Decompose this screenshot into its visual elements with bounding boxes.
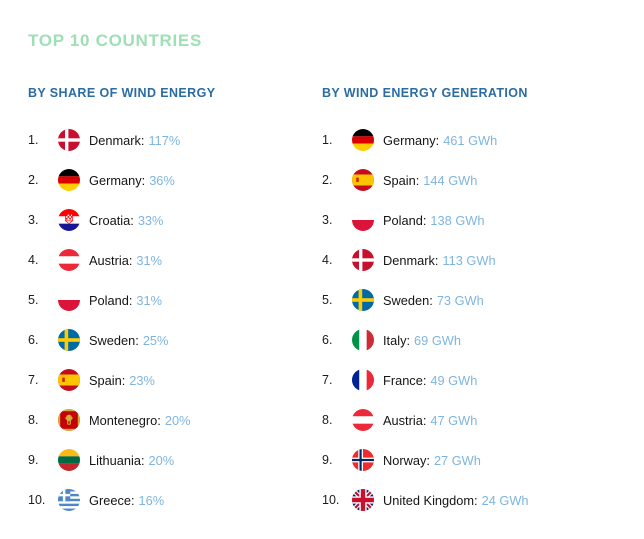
spain-flag-icon (58, 369, 80, 391)
rank-number: 5. (28, 293, 58, 307)
rank-number: 10. (322, 493, 352, 507)
country-name: Sweden: (383, 293, 433, 308)
france-flag-icon (352, 369, 374, 391)
sweden-flag-icon (352, 289, 374, 311)
country-value: 69 GWh (414, 333, 461, 348)
list-item: 3.Poland:138 GWh (322, 200, 622, 240)
rank-number: 10. (28, 493, 58, 507)
country-value: 73 GWh (437, 293, 484, 308)
norway-flag-icon (352, 449, 374, 471)
poland-flag-icon (58, 289, 80, 311)
list-item: 10.Greece:16% (28, 480, 318, 520)
lithuania-flag-icon (58, 449, 80, 471)
country-name: Croatia: (89, 213, 134, 228)
rank-number: 6. (28, 333, 58, 347)
sweden-flag-icon (58, 329, 80, 351)
column-wind-energy-generation: BY WIND ENERGY GENERATION 1.Germany:461 … (322, 86, 622, 504)
list-item: 7.France:49 GWh (322, 360, 622, 400)
country-name: Montenegro: (89, 413, 161, 428)
country-value: 31% (136, 253, 162, 268)
country-value: 138 GWh (430, 213, 484, 228)
list-item: 1.Germany:461 GWh (322, 120, 622, 160)
country-value: 47 GWh (430, 413, 477, 428)
country-name: France: (383, 373, 426, 388)
denmark-flag-icon (352, 249, 374, 271)
rank-number: 9. (322, 453, 352, 467)
rank-number: 9. (28, 453, 58, 467)
italy-flag-icon (352, 329, 374, 351)
country-value: 117% (148, 133, 180, 148)
germany-flag-icon (58, 169, 80, 191)
denmark-flag-icon (58, 129, 80, 151)
column-share-of-wind-energy: BY SHARE OF WIND ENERGY 1.Denmark:117%2.… (28, 86, 318, 504)
country-name: Germany: (89, 173, 145, 188)
austria-flag-icon (352, 409, 374, 431)
greece-flag-icon (58, 489, 80, 511)
country-value: 113 GWh (442, 253, 495, 268)
rank-number: 2. (322, 173, 352, 187)
column-heading: BY SHARE OF WIND ENERGY (28, 86, 318, 104)
list-item: 8.Montenegro:20% (28, 400, 318, 440)
country-name: Greece: (89, 493, 135, 508)
country-name: Austria: (89, 253, 132, 268)
country-name: Austria: (383, 413, 426, 428)
list-item: 10.United Kingdom:24 GWh (322, 480, 622, 520)
list-item: 8.Austria:47 GWh (322, 400, 622, 440)
country-name: Spain: (89, 373, 125, 388)
country-value: 23% (129, 373, 155, 388)
rank-number: 6. (322, 333, 352, 347)
rank-number: 7. (28, 373, 58, 387)
uk-flag-icon (352, 489, 374, 511)
list-item: 2.Spain:144 GWh (322, 160, 622, 200)
list-item: 9.Norway:27 GWh (322, 440, 622, 480)
rank-number: 7. (322, 373, 352, 387)
country-name: Poland: (89, 293, 132, 308)
country-value: 20% (165, 413, 191, 428)
rank-number: 4. (28, 253, 58, 267)
country-name: Denmark: (383, 253, 438, 268)
country-value: 36% (149, 173, 175, 188)
list-item: 6.Sweden:25% (28, 320, 318, 360)
country-name: Poland: (383, 213, 426, 228)
top-countries-panel: TOP 10 COUNTRIES BY SHARE OF WIND ENERGY… (0, 0, 644, 539)
austria-flag-icon (58, 249, 80, 271)
country-name: United Kingdom: (383, 493, 478, 508)
list-item: 4.Denmark:113 GWh (322, 240, 622, 280)
country-name: Denmark: (89, 133, 144, 148)
country-value: 461 GWh (443, 133, 497, 148)
rank-number: 8. (322, 413, 352, 427)
country-name: Lithuania: (89, 453, 145, 468)
country-name: Germany: (383, 133, 439, 148)
rank-number: 1. (322, 133, 352, 147)
country-name: Italy: (383, 333, 410, 348)
column-heading: BY WIND ENERGY GENERATION (322, 86, 622, 104)
rank-number: 3. (28, 213, 58, 227)
poland-flag-icon (352, 209, 374, 231)
list-item: 5.Sweden:73 GWh (322, 280, 622, 320)
list-item: 2.Germany:36% (28, 160, 318, 200)
list-item: 7.Spain:23% (28, 360, 318, 400)
list-item: 4.Austria:31% (28, 240, 318, 280)
spain-flag-icon (352, 169, 374, 191)
rank-number: 2. (28, 173, 58, 187)
rank-number: 8. (28, 413, 58, 427)
list-item: 6.Italy:69 GWh (322, 320, 622, 360)
rank-number: 4. (322, 253, 352, 267)
country-value: 33% (138, 213, 164, 228)
rank-number: 1. (28, 133, 58, 147)
country-value: 49 GWh (430, 373, 477, 388)
country-name: Sweden: (89, 333, 139, 348)
country-value: 25% (143, 333, 169, 348)
page-title: TOP 10 COUNTRIES (28, 31, 202, 51)
country-value: 16% (139, 493, 165, 508)
country-value: 27 GWh (434, 453, 481, 468)
country-value: 24 GWh (482, 493, 529, 508)
montenegro-flag-icon (58, 409, 80, 431)
country-list-generation: 1.Germany:461 GWh2.Spain:144 GWh3.Poland… (322, 120, 622, 520)
list-item: 5.Poland:31% (28, 280, 318, 320)
list-item: 3.Croatia:33% (28, 200, 318, 240)
country-value: 144 GWh (423, 173, 477, 188)
rank-number: 3. (322, 213, 352, 227)
country-list-share: 1.Denmark:117%2.Germany:36%3.Croatia:33%… (28, 120, 318, 520)
country-name: Norway: (383, 453, 430, 468)
rank-number: 5. (322, 293, 352, 307)
list-item: 1.Denmark:117% (28, 120, 318, 160)
croatia-flag-icon (58, 209, 80, 231)
country-value: 31% (136, 293, 162, 308)
germany-flag-icon (352, 129, 374, 151)
list-item: 9.Lithuania:20% (28, 440, 318, 480)
country-name: Spain: (383, 173, 419, 188)
country-value: 20% (149, 453, 175, 468)
